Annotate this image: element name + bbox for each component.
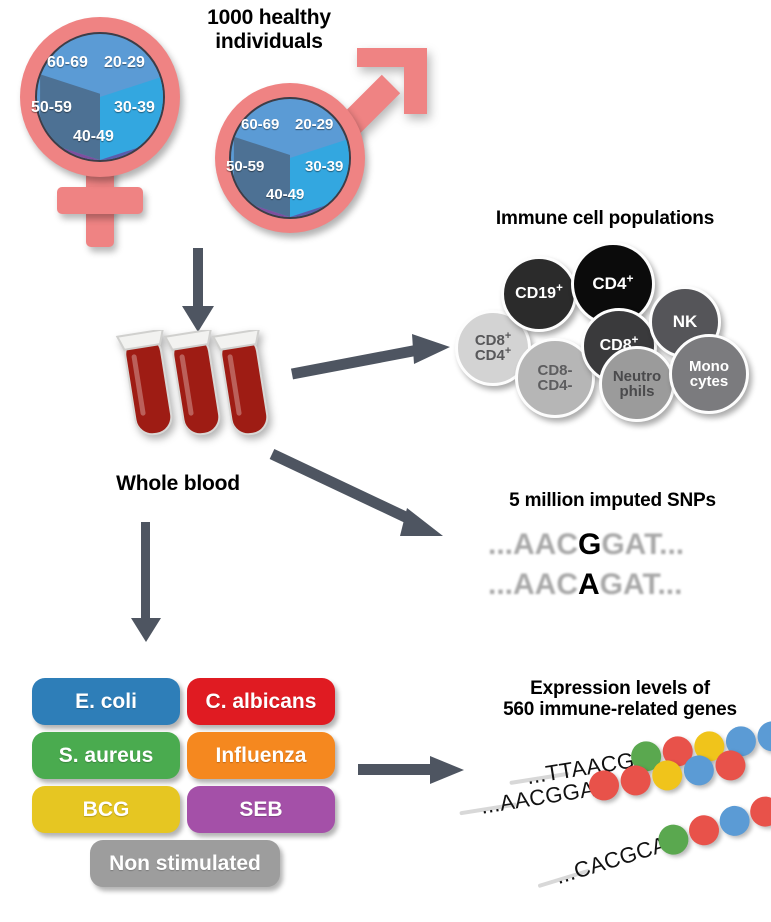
snp-allele-2: ...AACAGAT... (488, 568, 682, 602)
stimuli-group: E. coli C. albicans S. aureus Influenza … (32, 678, 352, 903)
snp-variant: G (578, 528, 601, 561)
snp-prefix: ...AAC (488, 528, 578, 561)
expression-bead (746, 793, 771, 830)
male-pie-label-60-69: 60-69 (241, 116, 279, 133)
expression-title: Expression levels of 560 immune-related … (470, 678, 770, 721)
male-pie-label-30-39: 30-39 (305, 158, 343, 175)
snp-suffix: GAT... (600, 568, 683, 601)
expression-bead (685, 812, 722, 849)
female-cross-horizontal (57, 187, 143, 214)
expression-title-line2: 560 immune-related genes (470, 699, 770, 720)
expression-bead (716, 802, 753, 839)
male-pie-label-40-49: 40-49 (266, 186, 304, 203)
snps-title: 5 million imputed SNPs (470, 490, 755, 511)
immune-cell-label: CD8- CD4- (537, 363, 572, 394)
immune-cell-label: NK (673, 313, 698, 330)
immune-cell-label: CD4+ (592, 275, 633, 292)
immune-cell-label: Mono cytes (689, 359, 729, 390)
cohort-title-line1: 1000 healthy (174, 6, 364, 30)
female-pie-label-30-39: 30-39 (114, 99, 155, 117)
snp-suffix: GAT... (601, 528, 684, 561)
male-pie-label-20-29: 20-29 (295, 116, 333, 133)
expression-title-line1: Expression levels of (470, 678, 770, 699)
immune-cell-cd19p: CD19+ (501, 256, 577, 332)
stimulus-influenza[interactable]: Influenza (187, 732, 335, 779)
female-pie-label-50-59: 50-59 (31, 99, 72, 117)
blood-tubes-group (105, 330, 280, 445)
cohort-title: 1000 healthy individuals (174, 6, 364, 53)
female-pie-label-40-49: 40-49 (73, 128, 114, 146)
immune-cell-label: CD19+ (515, 286, 563, 302)
snp-allele-1: ...AACGGAT... (488, 528, 684, 562)
immune-cell-monocytes: Mono cytes (669, 334, 749, 414)
expression-bead (755, 719, 771, 753)
stimulus-bcg[interactable]: BCG (32, 786, 180, 833)
stimulus-non-stimulated[interactable]: Non stimulated (90, 840, 280, 887)
snp-prefix: ...AAC (488, 568, 578, 601)
arrow-down-to-blood (178, 248, 218, 334)
immune-cells-group: CD8+ CD4+ CD19+ CD4+ CD8- CD4- CD8+ NK N… (455, 242, 765, 427)
immune-cell-neutrophils: Neutro phils (599, 346, 675, 422)
male-symbol: 20-29 30-39 40-49 50-59 60-69 (205, 48, 425, 248)
immune-cell-populations-title: Immune cell populations (455, 208, 755, 229)
arrow-down-to-stimuli (126, 522, 166, 642)
expression-strands-group: ...TTAACGG ...AACGGAT ...CACGCAA (455, 740, 771, 915)
snp-variant: A (578, 568, 600, 601)
arrow-right-to-immune-cells (290, 330, 460, 385)
male-pie-label-50-59: 50-59 (226, 158, 264, 175)
stimulus-s-aureus[interactable]: S. aureus (32, 732, 180, 779)
female-pie-label-60-69: 60-69 (47, 54, 88, 72)
arrow-diagonal-to-snps (268, 448, 453, 548)
female-symbol: 20-29 30-39 40-49 50-59 60-69 (10, 12, 200, 252)
stimulus-c-albicans[interactable]: C. albicans (187, 678, 335, 725)
female-pie-label-20-29: 20-29 (104, 54, 145, 72)
arrow-right-to-expression (358, 752, 468, 788)
stimulus-seb[interactable]: SEB (187, 786, 335, 833)
immune-cell-label: CD8+ CD4+ (475, 333, 511, 364)
stimulus-e-coli[interactable]: E. coli (32, 678, 180, 725)
immune-cell-label: Neutro phils (613, 369, 661, 400)
whole-blood-label: Whole blood (78, 472, 278, 496)
snp-sequences-group: ...AACGGAT... ...AACAGAT... (488, 528, 738, 608)
